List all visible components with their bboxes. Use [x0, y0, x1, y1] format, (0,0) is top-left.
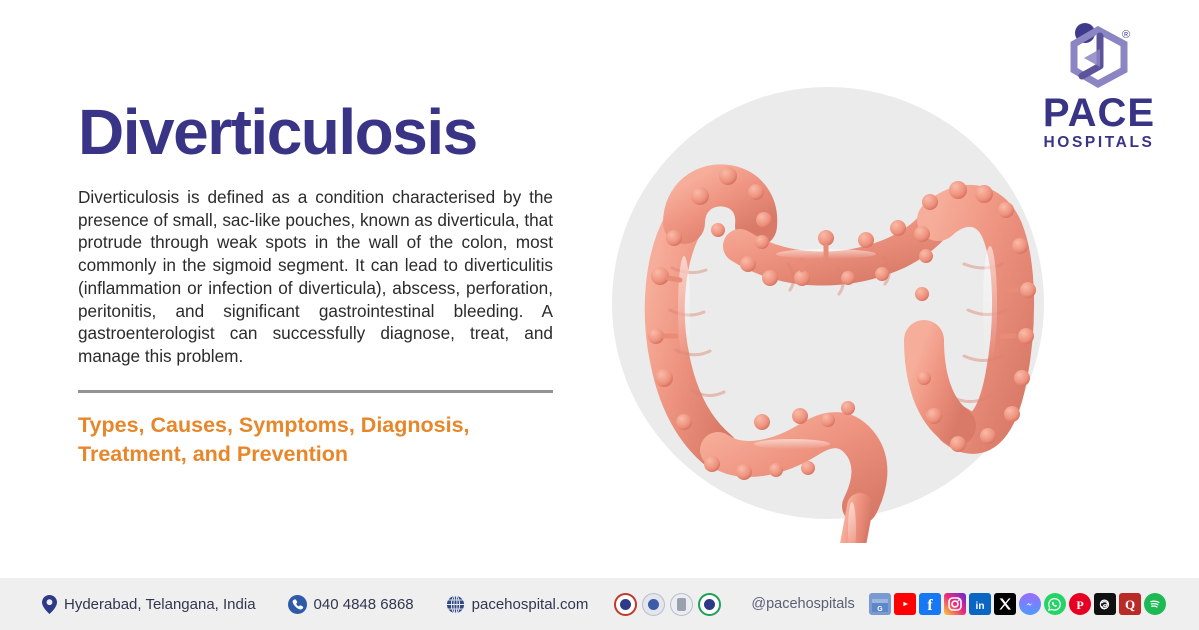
pinterest-icon[interactable]: P [1069, 593, 1091, 615]
content-column: Diverticulosis Diverticulosis is defined… [78, 100, 558, 470]
linkedin-icon[interactable]: in [969, 593, 991, 615]
svg-text:Q: Q [1125, 597, 1135, 612]
instagram-icon[interactable] [944, 593, 966, 615]
article-subtitle: Types, Causes, Symptoms, Diagnosis, Trea… [78, 411, 563, 470]
accreditation-badge-iso [698, 593, 721, 616]
whatsapp-icon[interactable] [1044, 593, 1066, 615]
phone-icon [288, 595, 307, 614]
location-pin-icon [42, 595, 57, 614]
accreditation-badge-nabh [614, 593, 637, 616]
footer-website-text: pacehospital.com [472, 596, 589, 613]
svg-text:in: in [975, 601, 984, 612]
threads-icon[interactable] [1094, 593, 1116, 615]
accreditation-badges [614, 593, 721, 616]
section-divider [78, 390, 553, 393]
social-icons: G f [869, 593, 1166, 615]
infographic-canvas: Diverticulosis Diverticulosis is defined… [0, 0, 1199, 630]
footer-website[interactable]: pacehospital.com [446, 595, 589, 614]
hero-image [612, 78, 1047, 543]
footer-location: Hyderabad, Telangana, India [42, 595, 256, 614]
x-twitter-icon[interactable] [994, 593, 1016, 615]
svg-text:f: f [927, 597, 933, 613]
svg-text:G: G [877, 606, 883, 613]
spotify-icon[interactable] [1144, 593, 1166, 615]
footer-location-text: Hyderabad, Telangana, India [64, 596, 256, 613]
messenger-icon[interactable] [1019, 593, 1041, 615]
globe-icon [446, 595, 465, 614]
google-business-icon[interactable]: G [869, 593, 891, 615]
footer-phone-text: 040 4848 6868 [314, 596, 414, 613]
page-title: Diverticulosis [78, 100, 558, 164]
pace-hexagon-logo-icon: ® [1033, 22, 1165, 92]
accreditation-badge-jci [670, 593, 693, 616]
social-handle: @pacehospitals [751, 596, 854, 612]
footer-phone[interactable]: 040 4848 6868 [288, 595, 414, 614]
brand-name: PACE [1033, 94, 1165, 132]
quora-icon[interactable]: Q [1119, 593, 1141, 615]
svg-text:P: P [1076, 598, 1083, 612]
youtube-icon[interactable] [894, 593, 916, 615]
footer-bar: Hyderabad, Telangana, India 040 4848 686… [0, 578, 1199, 630]
accreditation-badge-nabl [642, 593, 665, 616]
brand-subtitle: HOSPITALS [1033, 135, 1165, 151]
brand-logo[interactable]: ® PACE HOSPITALS [1033, 22, 1165, 151]
svg-text:®: ® [1122, 29, 1130, 41]
facebook-icon[interactable]: f [919, 593, 941, 615]
article-body-text: Diverticulosis is defined as a condition… [78, 186, 553, 368]
colon-diverticula-illustration [612, 78, 1047, 543]
